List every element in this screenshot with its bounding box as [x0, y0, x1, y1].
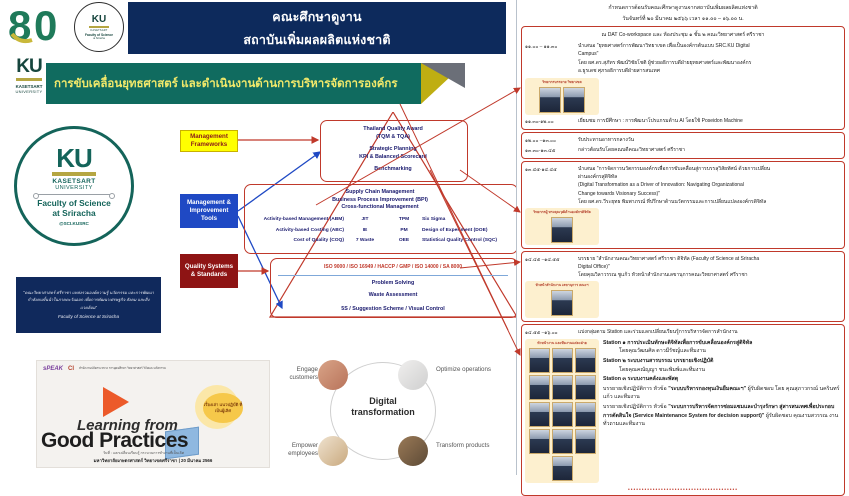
agenda-body: เยี่ยมชม การมีศึกษา : การพัฒนาโปรแกรมด้า…: [578, 117, 841, 125]
station-by: โดยคุณวัฒนศิล ดาวมีรัชญ์และทีมงาน: [603, 347, 841, 356]
speaker-caption: หัวหน้าสำนักงาน เลขานุการ คณะฯ: [527, 283, 597, 288]
agenda-time: ๑๓.๔๕-๑๔.๔๕: [525, 165, 573, 174]
seal-small-line3: at Sriracha: [93, 37, 105, 40]
agenda-time: ๑๒.๐๐ –๑๓.๐๐: [525, 136, 573, 145]
doc-heading-2: วันจันทร์ที่ ๒๐ มีนาคม ๒๕๖๖ เวลา ๑๑.๐๐ –…: [521, 15, 845, 24]
agenda-body: แบ่งกลุ่มตาม Station และร่วมแลกเปลี่ยนเร…: [578, 328, 841, 336]
title-line-1: คณะศึกษาดูงาน: [272, 7, 361, 27]
gp-bubble-text: เรื่องเล่า แนวปฏิบัติ ที่เป็นผู้เลิศ: [203, 402, 243, 414]
team-photo: [552, 348, 573, 373]
gp-title: Good Practices: [41, 429, 188, 453]
team-photo: [575, 429, 596, 454]
wheel-label-transform: Transform products: [436, 442, 496, 450]
team-photo: [529, 429, 550, 454]
station-number: Station ๓: [603, 376, 626, 382]
team-photo: [552, 375, 573, 400]
tool-cell: Activity-based Management (ABM): [248, 217, 344, 222]
good-practices-card: sPEAK CI สำนักงานปลัดกระทรวง การอุดมศึกษ…: [36, 360, 270, 468]
station-by: โดยคุณคณัญญา ชนะพิมพ์และทีมงาน: [603, 366, 841, 375]
tool-cell: Statistical Quality Control (SQC): [422, 238, 512, 243]
seal-small-ku: KU: [92, 15, 106, 25]
wheel-label-empower: Empower employees: [272, 442, 318, 458]
tool-cell: PM: [386, 228, 422, 233]
wheel-photo-empower: [318, 436, 348, 466]
agenda-body: นำเสนอ "การจัดการนวัตกรรมองค์กรเพื่อการข…: [578, 165, 841, 207]
slide-root: 8 0 KU KASETSART Faculty of Science at S…: [0, 0, 849, 475]
agenda-speaker-block: วิทยากรบรรยาย วิทยาเขต: [525, 77, 841, 116]
pyramid-award-name: Thailand Quality Award: [363, 126, 423, 132]
seal-small-bar: [89, 26, 109, 28]
agenda-section: ๑๒.๐๐ –๑๓.๐๐ รับประทานอาหารกลางวัน ๑๓.๓๐…: [521, 132, 845, 159]
gp-org-text: สำนักงานปลัดกระทรวง การอุดมศึกษา วิทยาศา…: [79, 366, 166, 370]
station-item: Station ๑ การประเมินทักษะดิจิทัลเพื่อการ…: [603, 339, 841, 356]
speaker-photo-grid: [527, 217, 597, 243]
station-extra: บรรยายเชิงปฏิบัติการ หัวข้อ "ระบบการบริห…: [603, 403, 841, 429]
wheel-photo-transform: [398, 436, 428, 466]
seal-large-name1: KASETSART: [52, 178, 95, 185]
team-photo: [552, 456, 573, 481]
seal-large-faculty1: Faculty of Science: [37, 198, 111, 208]
agenda-body: บรรยาย "สำนักงานคณะวิทยาศาสตร์ ศรีราชา ด…: [578, 255, 841, 280]
pyramid-award: Thailand Quality Award (TQM & TQA): [320, 126, 466, 141]
title-bar: คณะศึกษาดูงาน สถาบันเพิ่มผลผลิตแห่งชาติ: [128, 2, 506, 54]
agenda-row: ๑๔.๔๕ –๑๔.๕๕ บรรยาย "สำนักงานคณะวิทยาศาส…: [525, 255, 841, 280]
agenda-time: ๑๓.๓๐-๑๓.๔๕: [525, 146, 573, 155]
agenda-line: นำเสนอ "ยุทธศาสตร์การพัฒนาวิทยาเขต เพื่อ…: [578, 42, 841, 50]
agenda-body: กล่าวต้อนรับโดยคณบดีคณะวิทยาศาสตร์ ศรีรา…: [578, 146, 841, 154]
agenda-section: ๑๓.๔๕-๑๔.๔๕ นำเสนอ "การจัดการนวัตกรรมองค…: [521, 161, 845, 249]
speaker-photo: [551, 290, 573, 316]
pyramid-iso-divider: [278, 275, 508, 276]
agenda-line: โดย ผศ.ดร.วีระยุทธ พิมพาภรณ์ ที่ปรึกษาด้…: [578, 198, 841, 206]
seal-large-divider: [35, 194, 113, 195]
wheel-center-label: Digital transformation: [344, 396, 422, 418]
tool-cell: Six Sigma: [422, 217, 512, 222]
team-photo: [552, 402, 573, 427]
tool-cell: 7 Waste: [344, 238, 386, 243]
extra-pre: บรรยายเชิงปฏิบัติการ หัวข้อ: [603, 404, 668, 410]
doc-dotted-divider: ••••••••••••••••••••••••••••••••••••••••: [525, 487, 841, 493]
station-item: Station ๒ ระบบงานสารบรรณ บรรยายเชิงปฏิบั…: [603, 357, 841, 374]
label-management-frameworks: Management Frameworks: [180, 130, 238, 152]
agenda-section: ณ DAT Co-workspace และ ห้องประชุม ๑ ชั้น…: [521, 26, 845, 130]
agenda-section: ๑๔.๔๕ –๑๔.๕๕ บรรยาย "สำนักงานคณะวิทยาศาส…: [521, 251, 845, 322]
banner-corner-decoration: [421, 63, 511, 111]
ku-wordmark-letters: KU: [16, 58, 41, 76]
tool-cell: Design of Experiment (DOE): [422, 228, 512, 233]
seal-large-bar: [52, 172, 96, 176]
station-title: การประเมินทักษะดิจิทัลเพื่อการขับเคลื่อน…: [627, 340, 752, 346]
team-photo: [575, 348, 596, 373]
tool-cell: JIT: [344, 217, 386, 222]
title-line-2: สถาบันเพิ่มผลผลิตแห่งชาติ: [243, 30, 390, 50]
pyramid-iso-standards: ISO 9000 / ISO 16949 / HACCP / GMP / ISO…: [270, 264, 516, 272]
seal-large-ku: KU: [56, 146, 92, 170]
speaker-photo: [551, 217, 573, 243]
agenda-row: ๑๑.๓๐-๑๒.๐๐ เยี่ยมชม การมีศึกษา : การพัฒ…: [525, 117, 841, 126]
gp-logo-1: sPEAK: [43, 366, 63, 372]
team-photo: [529, 402, 550, 427]
team-photo: [575, 375, 596, 400]
agenda-row: ๑๓.๔๕-๑๔.๔๕ นำเสนอ "การจัดการนวัตกรรมองค…: [525, 165, 841, 207]
pyramid-problem-solving: Problem Solving: [270, 280, 516, 288]
pyramid-bpi: Business Process Improvement (BPI): [332, 197, 428, 203]
pyramid-scm: Supply Chain Management: [346, 189, 415, 195]
team-photo-grid: [527, 348, 597, 481]
digital-transformation-wheel: Digital transformation Engage customers …: [270, 348, 502, 472]
agenda-line: Campus": [578, 50, 841, 58]
ku-wordmark: KU KASETSART UNIVERSITY: [8, 58, 50, 106]
quality-pyramid-diagram: Management Frameworks Management & Impro…: [172, 112, 517, 320]
pyramid-cfm: Cross-functional Management: [341, 204, 418, 210]
label-quality-systems-standards: Quality Systems & Standards: [180, 254, 238, 288]
subtitle-banner-text: การขับเคลื่อนยุทธศาสตร์ และดำเนินงานด้าน…: [46, 75, 398, 93]
team-photo-block: หัวหน้างาน และทีมงานแต่ละฝ่าย: [525, 339, 599, 483]
team-caption: หัวหน้างาน และทีมงานแต่ละฝ่าย: [527, 341, 597, 346]
wheel-photo-optimize: [398, 360, 428, 390]
svg-text:0: 0: [34, 4, 57, 48]
gp-bubble: เรื่องเล่า แนวปฏิบัติ ที่เป็นผู้เลิศ: [203, 393, 243, 423]
stations-layout: หัวหน้างาน และทีมงานแต่ละฝ่าย: [525, 338, 841, 484]
gp-subcaption: วันที่ : แลกเปลี่ยนเรียนรู้ กระบวนการทำง…: [103, 451, 184, 456]
ku-wordmark-name2: UNIVERSITY: [15, 89, 42, 94]
pyramid-5s: 5S / Suggestion Scheme / Visual Control: [270, 306, 516, 314]
tool-cell: Activity-based Costing (ABC): [248, 228, 344, 233]
speaker-photo: [563, 87, 585, 113]
team-photo: [575, 402, 596, 427]
agenda-line: โดย ผศ.ดร.สุภัทร พัฒน์วิชัยโชติ ผู้ช่วยอ…: [578, 59, 841, 67]
vision-quote-english: Faculty of Science at Sriracha: [58, 313, 119, 321]
agenda-line: โดยคุณวิลาวรรณ ชูแก้ว หัวหน้าสำนักงานเลข…: [578, 271, 841, 279]
speaker-photo-block: วิทยากรบรรยาย วิทยาเขต: [525, 78, 599, 115]
ku-seal-small: KU KASETSART Faculty of Science at Srira…: [74, 2, 124, 52]
gp-footer: มหาวิทยาลัยเกษตรศาสตร์ วิทยาเขตศรีราชา |…: [37, 457, 269, 464]
pyramid-strategic-planning: Strategic Planning: [369, 146, 416, 152]
pyramid-tools-grid: Activity-based Management (ABM) JIT TPM …: [248, 217, 512, 243]
stations-text: Station ๑ การประเมินทักษะดิจิทัลเพื่อการ…: [603, 338, 841, 430]
vision-quote-thai: "คณะวิทยาศาสตร์ ศรีราชา แหล่งรวมองค์ความ…: [22, 289, 155, 312]
speaker-photo-block: วิทยากรผู้ ทรงคุณวุฒิด้านองค์กรดิจิทัล: [525, 208, 599, 245]
team-photo: [529, 348, 550, 373]
extra-pre: บรรยายเชิงปฏิบัติการ หัวข้อ: [603, 386, 668, 392]
subtitle-banner: การขับเคลื่อนยุทธศาสตร์ และดำเนินงานด้าน…: [46, 63, 421, 104]
team-photo: [552, 429, 573, 454]
tool-cell: IE: [344, 228, 386, 233]
speaker-photo-block: หัวหน้าสำนักงาน เลขานุการ คณะฯ: [525, 281, 599, 318]
ku-wordmark-bar: [16, 78, 42, 81]
pyramid-award-sub: (TQM & TQA): [376, 134, 410, 140]
team-photo: [529, 375, 550, 400]
station-extra: บรรยายเชิงปฏิบัติการ หัวข้อ "ระบบบริหารก…: [603, 385, 841, 402]
agenda-section-stations: ๑๔.๕๕ –๑๖.๐๐ แบ่งกลุ่มตาม Station และร่ว…: [521, 324, 845, 496]
agenda-line: (Digital Transformation as a Driver of I…: [578, 181, 841, 189]
station-number: Station ๒: [603, 358, 626, 364]
agenda-line: Digital Office)": [578, 263, 841, 271]
station-number: Station ๑: [603, 340, 626, 346]
play-triangle-icon: [103, 387, 129, 417]
agenda-body: นำเสนอ "ยุทธศาสตร์การพัฒนาวิทยาเขต เพื่อ…: [578, 42, 841, 76]
label-management-improvement-tools: Management & Improvement Tools: [180, 194, 238, 228]
good-practices-logos: sPEAK CI สำนักงานปลัดกระทรวง การอุดมศึกษ…: [43, 366, 166, 372]
agenda-line: อ.ธูรเดช ศุภรอธิการบดีฝ่ายสารสนเทศ: [578, 67, 841, 75]
agenda-body: รับประทานอาหารกลางวัน: [578, 136, 841, 144]
pyramid-waste-assessment: Waste Assessment: [270, 292, 516, 300]
grey-triangle-icon: [421, 63, 465, 88]
speaker-caption: วิทยากรผู้ ทรงคุณวุฒิด้านองค์กรดิจิทัล: [527, 210, 597, 215]
seal-large-handle: @SCI.KUSRC: [59, 221, 89, 226]
agenda-line: บรรยาย "สำนักงานคณะวิทยาศาสตร์ ศรีราชา ด…: [578, 255, 841, 263]
station-title: ระบบงานคลังและพัสดุ: [628, 376, 679, 382]
vision-quote-box: "คณะวิทยาศาสตร์ ศรีราชา แหล่งรวมองค์ความ…: [16, 277, 161, 333]
seal-large-faculty2: at Sriracha: [52, 208, 95, 218]
agenda-row: ๑๒.๐๐ –๑๓.๐๐ รับประทานอาหารกลางวัน: [525, 136, 841, 145]
speaker-photo: [539, 87, 561, 113]
station-title: ระบบงานสารบรรณ บรรยายเชิงปฏิบัติ: [627, 358, 713, 364]
seal-small-line1: KASETSART: [90, 29, 107, 32]
left-panel: 8 0 KU KASETSART Faculty of Science at S…: [0, 0, 515, 475]
agenda-line: ผ่านองค์กรสู่ดิจิทัล: [578, 173, 841, 181]
speaker-caption: วิทยากรบรรยาย วิทยาเขต: [527, 80, 597, 85]
tool-cell: OEE: [386, 238, 422, 243]
gp-logo-2: CI: [68, 366, 74, 372]
extra-bold: "ระบบบริหารกองทุนเงินยืมคณะฯ": [668, 386, 746, 392]
wheel-label-optimize: Optimize operations: [436, 366, 496, 374]
agenda-time: ๑๑.๐๐ – ๑๑.๓๐: [525, 42, 573, 51]
agenda-document: กำหนดการต้อนรับคณะศึกษาดูงานจากสถาบันเพิ…: [516, 0, 849, 475]
station-item: Station ๓ ระบบงานคลังและพัสดุ: [603, 375, 841, 384]
speaker-photo-grid: [527, 87, 597, 113]
ku-seal-large: KU KASETSART UNIVERSITY Faculty of Scien…: [14, 126, 134, 246]
speaker-photo-grid: [527, 290, 597, 316]
tool-cell: Cost of Quality (COQ): [248, 238, 344, 243]
pyramid-benchmarking: Benchmarking: [320, 166, 466, 174]
seal-large-name2: UNIVERSITY: [55, 185, 93, 191]
agenda-line: นำเสนอ "การจัดการนวัตกรรมองค์กรเพื่อการข…: [578, 165, 841, 173]
pyramid-strategic: Strategic Planning KPI & Balanced Scorec…: [320, 146, 466, 161]
agenda-row: ๑๔.๕๕ –๑๖.๐๐ แบ่งกลุ่มตาม Station และร่ว…: [525, 328, 841, 337]
agenda-row: ๑๓.๓๐-๑๓.๔๕ กล่าวต้อนรับโดยคณบดีคณะวิทยา…: [525, 146, 841, 155]
pyramid-middle-head: Supply Chain Management Business Process…: [244, 189, 516, 212]
anniversary-80-logo: 8 0: [8, 4, 70, 48]
agenda-time: ๑๔.๔๕ –๑๔.๕๕: [525, 255, 573, 264]
agenda-row: ๑๑.๐๐ – ๑๑.๓๐ นำเสนอ "ยุทธศาสตร์การพัฒนา…: [525, 42, 841, 76]
wheel-label-engage: Engage customers: [272, 366, 318, 382]
wheel-photo-engage: [318, 360, 348, 390]
agenda-time: ๑๔.๕๕ –๑๖.๐๐: [525, 328, 573, 337]
doc-venue: ณ DAT Co-workspace และ ห้องประชุม ๑ ชั้น…: [525, 29, 841, 41]
doc-heading-1: กำหนดการต้อนรับคณะศึกษาดูงานจากสถาบันเพิ…: [521, 4, 845, 13]
tool-cell: TPM: [386, 217, 422, 222]
agenda-time: ๑๑.๓๐-๑๒.๐๐: [525, 117, 573, 126]
agenda-line: Change towards Visionary Success)": [578, 190, 841, 198]
pyramid-kpi: KPI & Balanced Scorecard: [359, 154, 427, 160]
